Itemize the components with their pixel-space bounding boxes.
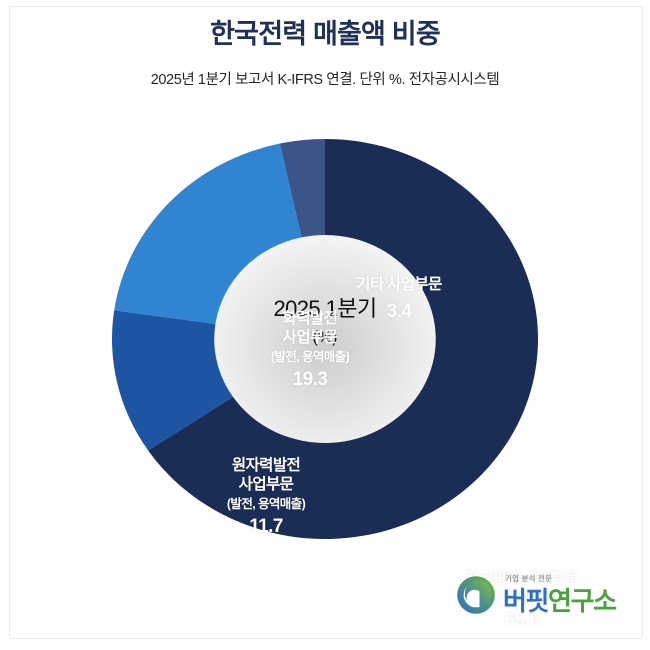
logo-name-part-b: 연구소 [548, 586, 616, 616]
donut-chart: 2025 1분기 (%) 기타 사업부문 3.4 화력발전 사업부문 (발전, … [95, 124, 555, 554]
donut-chart-svg [95, 124, 555, 554]
logo-text-block: 기업 분석 전문 버핏연구소 [503, 568, 627, 618]
chart-page: 한국전력 매출액 비중 2025년 1분기 보고서 K-IFRS 연결. 단위 … [0, 0, 650, 650]
page-title: 한국전력 매출액 비중 [0, 19, 650, 50]
pie-slice-thermal[interactable] [114, 144, 301, 324]
brand-logo[interactable]: 기업 분석 전문 버핏연구소 [455, 568, 625, 620]
logo-name-part-a: 버핏 [503, 586, 548, 616]
logo-name: 버핏연구소 [503, 581, 616, 618]
chart-subtitle: 2025년 1분기 보고서 K-IFRS 연결. 단위 %. 전자공시시스템 [0, 68, 650, 89]
buffett-circle-logo-icon [455, 574, 497, 616]
chart-header: 한국전력 매출액 비중 2025년 1분기 보고서 K-IFRS 연결. 단위 … [0, 0, 650, 89]
